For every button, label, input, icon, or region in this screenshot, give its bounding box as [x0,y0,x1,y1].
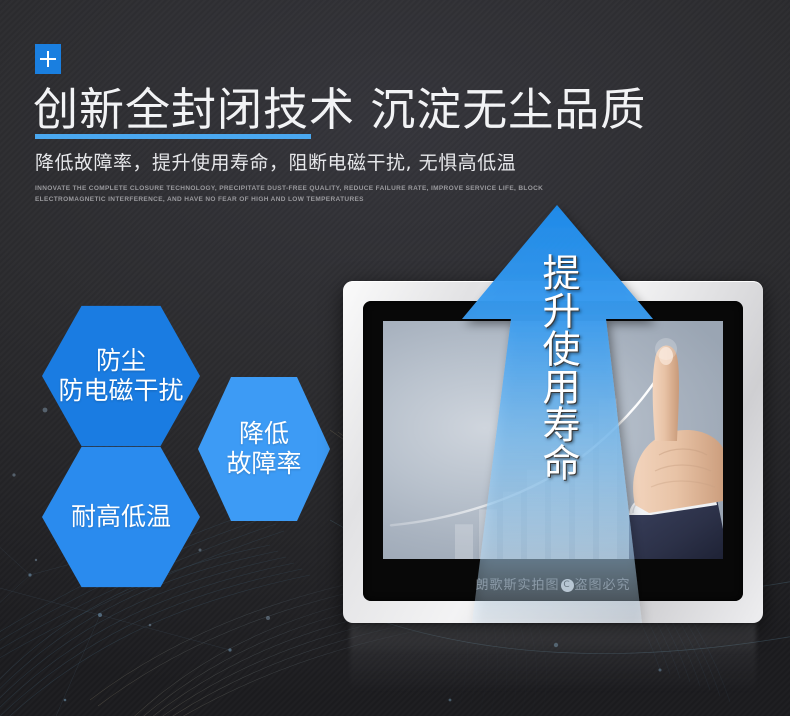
banner-canvas: 创新全封闭技术 沉淀无尘品质 降低故障率，提升使用寿命，阻断电磁干扰, 无惧高低… [0,0,790,716]
plus-icon-vertical-bar [47,51,49,67]
page-title: 创新全封闭技术 沉淀无尘品质 [33,84,646,136]
plus-icon [35,44,61,74]
title-underline [35,134,311,139]
page-subtitle: 降低故障率，提升使用寿命，阻断电磁干扰, 无惧高低温 [35,148,516,175]
monitor-reflection [350,623,756,693]
feature-hexagon-temperature[interactable]: 耐高低温 [42,444,200,590]
feature-hexagon-failure-line2: 故障率 [226,449,301,480]
feature-hexagon-dust-line1: 防尘 [58,346,183,377]
english-caption-line-2: ELECTROMAGNETIC INTERFERENCE, AND HAVE N… [35,196,364,203]
feature-hexagon-dust[interactable]: 防尘 防电磁干扰 [42,303,200,449]
feature-hexagon-failure-line1: 降低 [226,419,301,450]
feature-hexagon-dust-line2: 防电磁干扰 [58,376,183,407]
arrow-label: 提升使用寿命 [530,252,586,482]
feature-hexagon-failure-rate[interactable]: 降低 故障率 [198,374,330,524]
feature-hexagon-temperature-line1: 耐高低温 [71,502,171,533]
title-block: 创新全封闭技术 沉淀无尘品质 [33,84,646,136]
english-caption-line-1: INNOVATE THE COMPLETE CLOSURE TECHNOLOGY… [35,185,543,192]
